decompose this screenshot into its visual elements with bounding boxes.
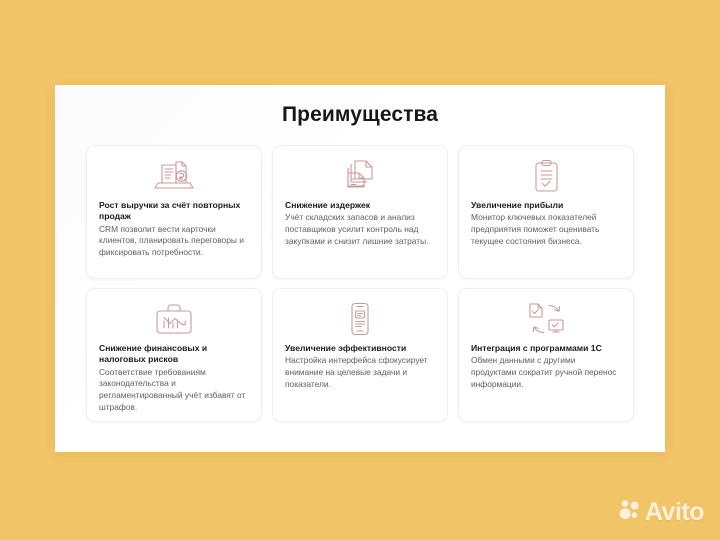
card-text: Настройка интерфейса сфокусирует внимани… xyxy=(285,355,435,390)
avito-wordmark: Avito xyxy=(645,500,704,525)
card-title: Интеграция с программами 1С xyxy=(471,343,621,354)
advantage-card[interactable]: Увеличение эффективности Настройка интер… xyxy=(272,288,448,422)
card-title: Снижение издержек xyxy=(285,200,435,211)
advantages-panel: Преимущества Рост выручки з xyxy=(55,85,665,452)
card-title: Снижение финансовых и налоговых рисков xyxy=(99,343,249,366)
card-text: Обмен данными с другими продуктами сокра… xyxy=(471,355,621,390)
advantage-card[interactable]: Снижение издержек Учёт складских запасов… xyxy=(272,145,448,279)
smartphone-interface-icon xyxy=(285,298,435,340)
advantage-card[interactable]: Увеличение прибыли Монитор ключевых пока… xyxy=(458,145,634,279)
advantage-card[interactable]: Интеграция с программами 1С Обмен данным… xyxy=(458,288,634,422)
documents-stack-icon xyxy=(285,155,435,197)
card-title: Увеличение эффективности xyxy=(285,343,435,354)
avito-watermark: Avito xyxy=(618,499,704,526)
laptop-document-ruble-icon xyxy=(99,155,249,197)
clipboard-check-icon xyxy=(471,155,621,197)
advantage-card[interactable]: Рост выручки за счёт повторных продаж CR… xyxy=(86,145,262,279)
slide-canvas: Преимущества Рост выручки з xyxy=(0,0,720,540)
card-title: Рост выручки за счёт повторных продаж xyxy=(99,200,249,223)
card-title: Увеличение прибыли xyxy=(471,200,621,211)
briefcase-chart-down-icon xyxy=(99,298,249,340)
card-text: Монитор ключевых показателей предприятия… xyxy=(471,212,621,247)
card-text: CRM позволит вести карточки клиентов, пл… xyxy=(99,224,249,259)
card-text: Учёт складских запасов и анализ поставщи… xyxy=(285,212,435,247)
card-text: Соответствие требованиям законодательств… xyxy=(99,367,249,413)
avito-dots-icon xyxy=(618,499,640,526)
data-sync-exchange-icon xyxy=(471,298,621,340)
advantages-card-grid: Рост выручки за счёт повторных продаж CR… xyxy=(86,145,634,422)
advantage-card[interactable]: Снижение финансовых и налоговых рисков С… xyxy=(86,288,262,422)
page-title: Преимущества xyxy=(55,103,665,127)
